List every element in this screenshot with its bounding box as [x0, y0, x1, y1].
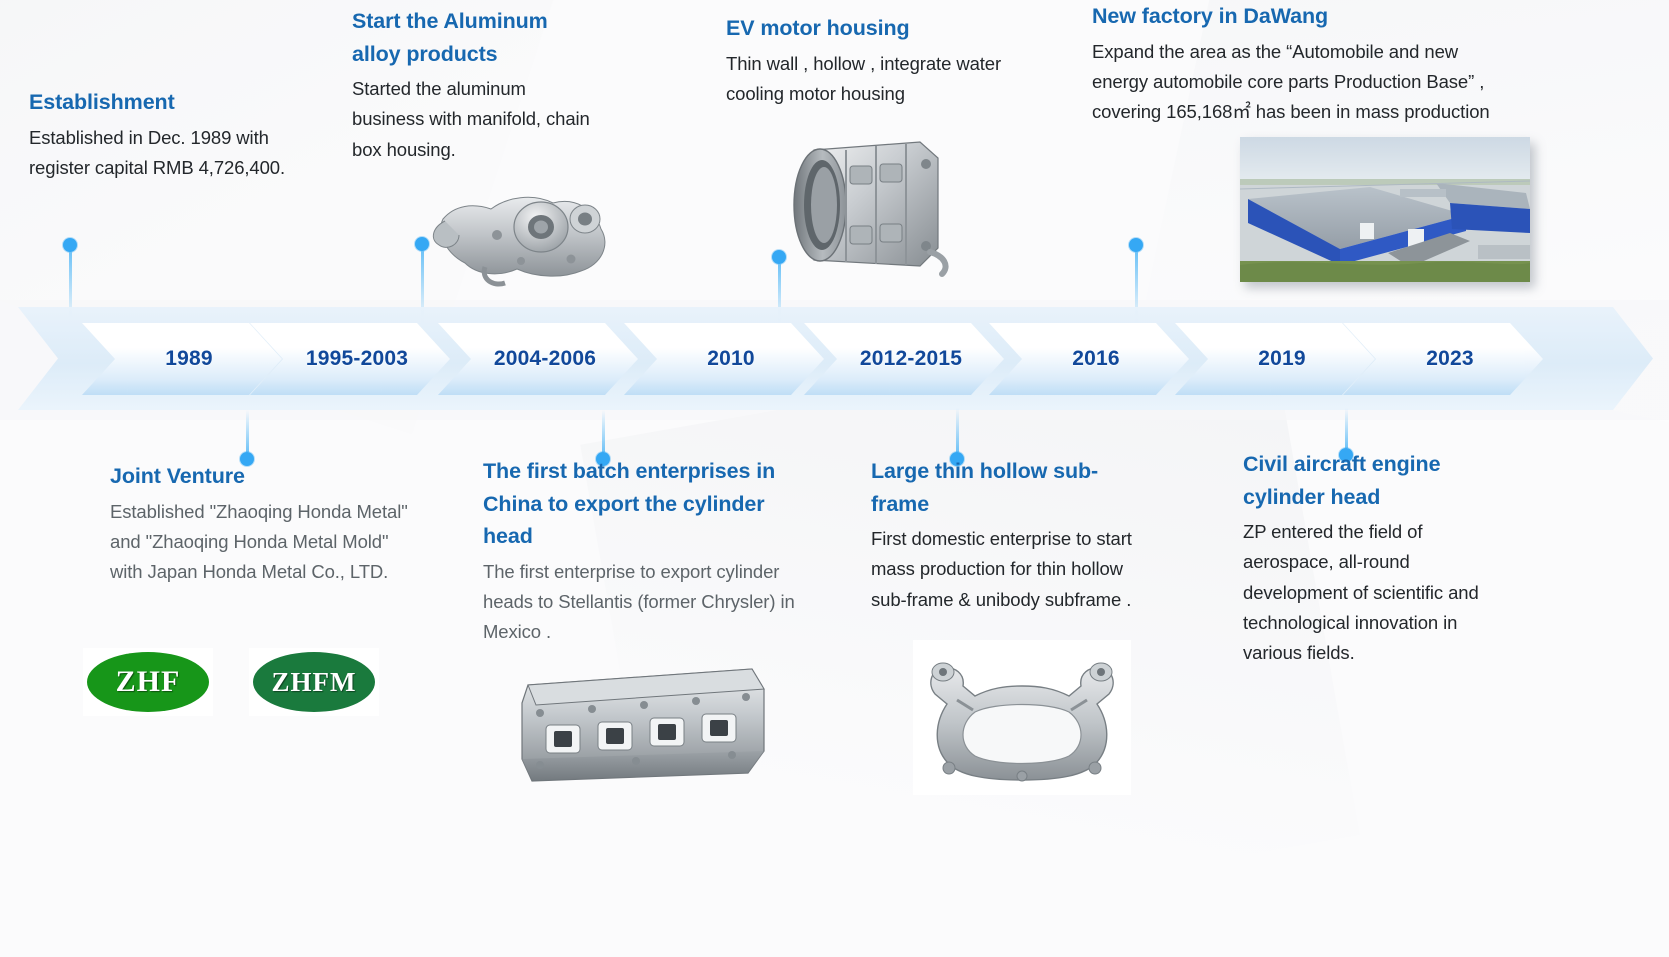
milestone-below-joint-venture: Joint Venture Established "Zhaoqing Hond…	[110, 460, 410, 587]
milestone-body: ZP entered the field of aerospace, all-r…	[1243, 517, 1513, 668]
timeline-year-label: 2012-2015	[846, 347, 962, 371]
milestone-title: Start the Aluminum alloy products	[352, 5, 602, 70]
milestone-title: Joint Venture	[110, 460, 410, 493]
manifold-chain-box-housing-photo	[425, 175, 640, 290]
milestone-body: The first enterprise to export cylinder …	[483, 557, 801, 647]
ev-motor-housing-photo	[780, 120, 960, 285]
logo-zhf-oval: ZHF	[87, 652, 209, 712]
logo-zhfm: ZHFM	[249, 648, 379, 716]
connector-pin-joint-venture	[240, 410, 254, 466]
milestone-title: Establishment	[29, 86, 319, 119]
milestone-above-ev-motor-housing: EV motor housing Thin wall , hollow , in…	[726, 12, 1026, 109]
timeline-band: 1989 1995-2003 2004-2006 2010 2012-2015 …	[18, 307, 1653, 410]
milestone-body: Established "Zhaoqing Honda Metal" and "…	[110, 497, 410, 587]
timeline-year-label: 2004-2006	[480, 347, 596, 371]
milestone-title: Large thin hollow sub-frame	[871, 455, 1151, 520]
milestone-above-establishment: Establishment Established in Dec. 1989 w…	[29, 86, 319, 183]
dawang-factory-photo	[1240, 137, 1530, 282]
logo-zhfm-oval: ZHFM	[250, 649, 378, 715]
milestone-body: Expand the area as the “Automobile and n…	[1092, 37, 1492, 127]
milestone-below-aircraft-cylinder-head: Civil aircraft engine cylinder head ZP e…	[1243, 448, 1513, 668]
logo-zhf: ZHF	[83, 648, 213, 716]
cylinder-head-photo	[516, 655, 771, 795]
milestone-title: Civil aircraft engine cylinder head	[1243, 448, 1513, 513]
milestone-below-sub-frame: Large thin hollow sub-frame First domest…	[871, 455, 1151, 615]
milestone-title: EV motor housing	[726, 12, 1026, 45]
sub-frame-photo	[913, 640, 1131, 795]
timeline-year-label: 2019	[1244, 347, 1306, 371]
milestone-body: Thin wall , hollow , integrate water coo…	[726, 49, 1026, 109]
timeline-year-label: 1989	[151, 347, 213, 371]
logo-zhfm-text: ZHFM	[272, 667, 357, 698]
timeline-year-label: 1995-2003	[292, 347, 408, 371]
milestone-below-export-cylinder-head: The first batch enterprises in China to …	[483, 455, 801, 647]
milestone-body: Established in Dec. 1989 with register c…	[29, 123, 319, 183]
milestone-title: New factory in DaWang	[1092, 0, 1492, 33]
milestone-body: First domestic enterprise to start mass …	[871, 524, 1151, 614]
milestone-title: The first batch enterprises in China to …	[483, 455, 801, 553]
timeline-year-label: 2010	[693, 347, 755, 371]
milestone-above-new-factory: New factory in DaWang Expand the area as…	[1092, 0, 1492, 127]
milestone-above-aluminum-alloy: Start the Aluminum alloy products Starte…	[352, 5, 602, 165]
milestone-body: Started the aluminum business with manif…	[352, 74, 602, 164]
timeline-year-label: 2016	[1058, 347, 1120, 371]
timeline-year-label: 2023	[1412, 347, 1474, 371]
logo-zhf-text: ZHF	[116, 665, 181, 699]
